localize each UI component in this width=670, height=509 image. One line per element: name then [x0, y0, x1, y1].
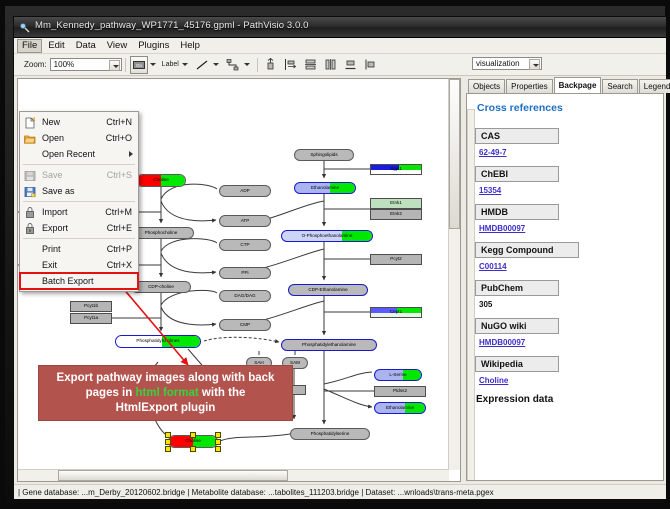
file-menu-popup[interactable]: New Ctrl+N Open Ctrl+O Open Recent — [19, 111, 139, 292]
xref-row-chebi: ChEBI 15354 — [475, 166, 653, 195]
tab-backpage[interactable]: Backpage — [554, 77, 602, 93]
menu-item-shortcut: Ctrl+P — [107, 244, 132, 254]
xref-value-link[interactable]: 62-49-7 — [479, 148, 653, 157]
chevron-down-icon[interactable] — [149, 57, 158, 73]
align-left-icon[interactable] — [282, 56, 300, 74]
menu-item-shortcut: Ctrl+N — [106, 117, 132, 127]
cross-references-heading: Cross references — [477, 102, 653, 114]
xref-value-link[interactable]: HMDB00097 — [479, 224, 653, 233]
selection-handle[interactable] — [190, 446, 196, 452]
tab-search[interactable]: Search — [602, 79, 637, 93]
menu-item-shortcut: Ctrl+O — [106, 133, 132, 143]
menu-item-open-recent[interactable]: Open Recent — [20, 146, 138, 162]
chevron-right-icon — [129, 151, 133, 157]
save-as-disk-icon — [24, 185, 36, 197]
xref-db-label: Wikipedia — [475, 356, 559, 372]
tab-properties[interactable]: Properties — [506, 79, 552, 93]
new-document-icon — [24, 116, 36, 128]
xref-value-link[interactable]: Choline — [479, 376, 653, 385]
selection-handle[interactable] — [165, 432, 171, 438]
scrollbar-thumb[interactable] — [58, 470, 288, 481]
toolbar[interactable]: Zoom: 100% Gn Label — [14, 54, 666, 76]
menu-item-shortcut: Ctrl+X — [107, 260, 132, 270]
menu-item-label: Open — [42, 133, 64, 143]
menu-plugins[interactable]: Plugins — [133, 39, 174, 53]
menu-bar[interactable]: File Edit Data View Plugins Help — [14, 38, 666, 54]
menu-help[interactable]: Help — [175, 39, 205, 53]
xref-db-label: ChEBI — [475, 166, 559, 182]
line-tool-icon[interactable] — [193, 56, 211, 74]
xref-db-label: PubChem — [475, 280, 559, 296]
menu-item-shortcut: Ctrl+E — [107, 223, 132, 233]
xref-value-text: 305 — [479, 300, 653, 309]
xref-row-wikipedia: Wikipedia Choline — [475, 356, 653, 385]
visualization-value: visualization — [476, 59, 520, 68]
xref-value-link[interactable]: HMDB00097 — [479, 338, 653, 347]
stack-icon[interactable] — [362, 56, 380, 74]
selection-handle[interactable] — [190, 432, 196, 438]
svg-text:Gn: Gn — [136, 63, 143, 68]
menu-item-shortcut: Ctrl+S — [107, 170, 132, 180]
menu-item-save: Save Ctrl+S — [20, 167, 138, 183]
desktop-background: Mm_Kennedy_pathway_WP1771_45176.gpml - P… — [5, 6, 665, 503]
menu-data[interactable]: Data — [71, 39, 101, 53]
menu-item-label: New — [42, 117, 60, 127]
menu-item-label: Import — [42, 207, 68, 217]
xref-row-kegg: Kegg Compound C00114 — [475, 242, 653, 271]
menu-item-open[interactable]: Open Ctrl+O — [20, 130, 138, 146]
menu-item-label: Export — [42, 223, 68, 233]
menu-item-label: Print — [42, 244, 61, 254]
toolbar-divider — [257, 58, 258, 72]
side-panel-scrollbar[interactable] — [467, 109, 475, 481]
xref-row-nugo: NuGO wiki HMDB00097 — [475, 318, 653, 347]
chevron-down-icon[interactable] — [181, 57, 190, 73]
datanode-icon[interactable]: Gn — [130, 56, 148, 74]
xref-row-pubchem: PubChem 305 — [475, 280, 653, 309]
align-top-icon[interactable] — [262, 56, 280, 74]
menu-file[interactable]: File — [17, 39, 42, 53]
zoom-combobox[interactable]: 100% — [50, 58, 122, 71]
menu-item-shortcut: Ctrl+M — [105, 207, 132, 217]
side-panel-tabs[interactable]: Objects Properties Backpage Search Legen… — [466, 78, 664, 93]
align-bottom-icon[interactable] — [342, 56, 360, 74]
xref-db-label: CAS — [475, 128, 559, 144]
scrollbar-thumb[interactable] — [449, 79, 460, 229]
xref-value-link[interactable]: 15354 — [479, 186, 653, 195]
side-panel: Objects Properties Backpage Search Legen… — [466, 78, 664, 482]
window-title: Mm_Kennedy_pathway_WP1771_45176.gpml - P… — [35, 20, 309, 31]
zoom-label: Zoom: — [24, 60, 47, 69]
callout-line-2-highlight: html format — [135, 387, 198, 399]
menu-item-save-as[interactable]: Save as — [20, 183, 138, 199]
status-text: | Gene database: ...m_Derby_20120602.bri… — [14, 488, 494, 497]
xref-value-link[interactable]: C00114 — [479, 262, 653, 271]
open-folder-icon — [24, 132, 36, 144]
menu-item-batch-export[interactable]: Batch Export — [20, 273, 138, 289]
toolbar-divider — [125, 58, 126, 72]
annotation-callout: Export pathway images along with back pa… — [38, 365, 293, 421]
distribute-horizontal-icon[interactable] — [322, 56, 340, 74]
selection-handle[interactable] — [215, 432, 221, 438]
interaction-tool-icon[interactable] — [224, 56, 242, 74]
chevron-down-icon[interactable] — [529, 59, 540, 70]
selection-handle[interactable] — [165, 439, 171, 445]
tab-objects[interactable]: Objects — [468, 79, 505, 93]
cross-references-content: Cross references CAS 62-49-7 ChEBI 15354… — [475, 100, 653, 480]
import-icon — [24, 206, 36, 218]
selection-handle[interactable] — [215, 439, 221, 445]
xref-row-cas: CAS 62-49-7 — [475, 128, 653, 157]
chevron-down-icon[interactable] — [212, 57, 221, 73]
title-bar: Mm_Kennedy_pathway_WP1771_45176.gpml - P… — [14, 17, 666, 38]
pathvisio-app-icon — [19, 21, 31, 33]
menu-item-label: Save — [42, 170, 63, 180]
selection-handle[interactable] — [165, 446, 171, 452]
menu-divider — [23, 164, 135, 165]
callout-line-3: HtmlExport plugin — [116, 401, 216, 416]
distribute-vertical-icon[interactable] — [302, 56, 320, 74]
callout-line-2-pre: pages in — [86, 387, 136, 399]
label-tool-button[interactable]: Label — [160, 61, 181, 68]
menu-item-label: Batch Export — [42, 276, 94, 286]
expression-data-heading: Expression data — [476, 394, 653, 405]
menu-item-import[interactable]: Import Ctrl+M — [20, 204, 138, 220]
xref-row-hmdb: HMDB HMDB00097 — [475, 204, 653, 233]
menu-item-print[interactable]: Print Ctrl+P — [20, 241, 138, 257]
screen: Mm_Kennedy_pathway_WP1771_45176.gpml - P… — [0, 0, 670, 509]
status-bar: | Gene database: ...m_Derby_20120602.bri… — [14, 484, 666, 499]
callout-line-2-post: with the — [199, 387, 246, 399]
menu-item-export[interactable]: Export Ctrl+E — [20, 220, 138, 236]
callout-line-1: Export pathway images along with back — [57, 371, 275, 386]
callout-line-2: pages in html format with the — [86, 386, 246, 401]
selection-handle[interactable] — [215, 446, 221, 452]
export-icon — [24, 222, 36, 234]
menu-divider — [23, 238, 135, 239]
visualization-combobox[interactable]: visualization — [472, 57, 542, 70]
menu-item-label: Save as — [42, 186, 75, 196]
menu-item-exit[interactable]: Exit Ctrl+X — [20, 257, 138, 273]
main-area: Choline Phosphocholine CDP-choline Phosp… — [14, 76, 666, 486]
xref-db-label: HMDB — [475, 204, 559, 220]
zoom-value: 100% — [54, 60, 74, 69]
chevron-down-icon[interactable] — [243, 57, 252, 73]
menu-item-label: Exit — [42, 260, 57, 270]
menu-edit[interactable]: Edit — [43, 39, 69, 53]
xref-db-label: NuGO wiki — [475, 318, 559, 334]
application-window: Mm_Kennedy_pathway_WP1771_45176.gpml - P… — [13, 16, 667, 500]
xref-db-label: Kegg Compound — [475, 242, 579, 258]
chevron-down-icon[interactable] — [109, 60, 120, 71]
menu-view[interactable]: View — [102, 39, 132, 53]
backpage-panel[interactable]: Cross references CAS 62-49-7 ChEBI 15354… — [466, 93, 664, 481]
menu-item-label: Open Recent — [42, 149, 95, 159]
menu-divider — [23, 201, 135, 202]
save-disk-icon — [24, 169, 36, 181]
tab-legend[interactable]: Legend — [639, 79, 670, 93]
menu-item-new[interactable]: New Ctrl+N — [20, 114, 138, 130]
